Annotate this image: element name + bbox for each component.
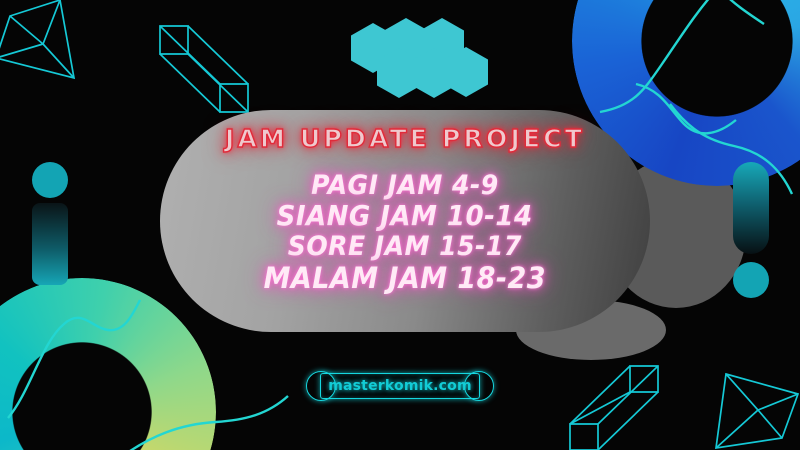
main-panel: JAM UPDATE PROJECT PAGI JAM 4-9 SIANG JA… bbox=[160, 110, 650, 332]
list-item: PAGI JAM 4-9 bbox=[311, 171, 499, 200]
exclamation-stem bbox=[733, 162, 769, 254]
cyan-wave-line-right-mid bbox=[640, 80, 800, 200]
hexagon-icon-3 bbox=[420, 18, 464, 68]
website-label: masterkomik.com bbox=[302, 369, 498, 403]
hexagon-icon-1 bbox=[351, 23, 395, 73]
hexagon-icon-6 bbox=[444, 47, 488, 97]
list-item: SORE JAM 15-17 bbox=[288, 232, 522, 261]
schedule-list: PAGI JAM 4-9 SIANG JAM 10-14 SORE JAM 15… bbox=[253, 171, 557, 294]
hexagon-icon-2 bbox=[384, 18, 428, 68]
list-item: MALAM JAM 18-23 bbox=[264, 263, 546, 294]
wireframe-bar-top-left-icon bbox=[148, 8, 268, 112]
page-title: JAM UPDATE PROJECT bbox=[225, 124, 585, 153]
poster-canvas: JAM UPDATE PROJECT PAGI JAM 4-9 SIANG JA… bbox=[0, 0, 800, 450]
wireframe-pyramid-bottom-right-icon bbox=[716, 370, 800, 450]
website-badge[interactable]: masterkomik.com bbox=[302, 369, 498, 403]
list-item: SIANG JAM 10-14 bbox=[277, 201, 533, 231]
hexagon-icon-4 bbox=[377, 48, 421, 98]
letter-i-dot bbox=[32, 162, 68, 198]
cyan-wave-line-bottom-center bbox=[120, 400, 350, 450]
letter-i-stem bbox=[32, 203, 68, 285]
wireframe-bar-bottom-right-icon bbox=[548, 340, 678, 440]
wireframe-pyramid-top-left-icon bbox=[0, 0, 96, 88]
exclamation-dot bbox=[733, 262, 769, 298]
hexagon-icon-5 bbox=[412, 48, 456, 98]
